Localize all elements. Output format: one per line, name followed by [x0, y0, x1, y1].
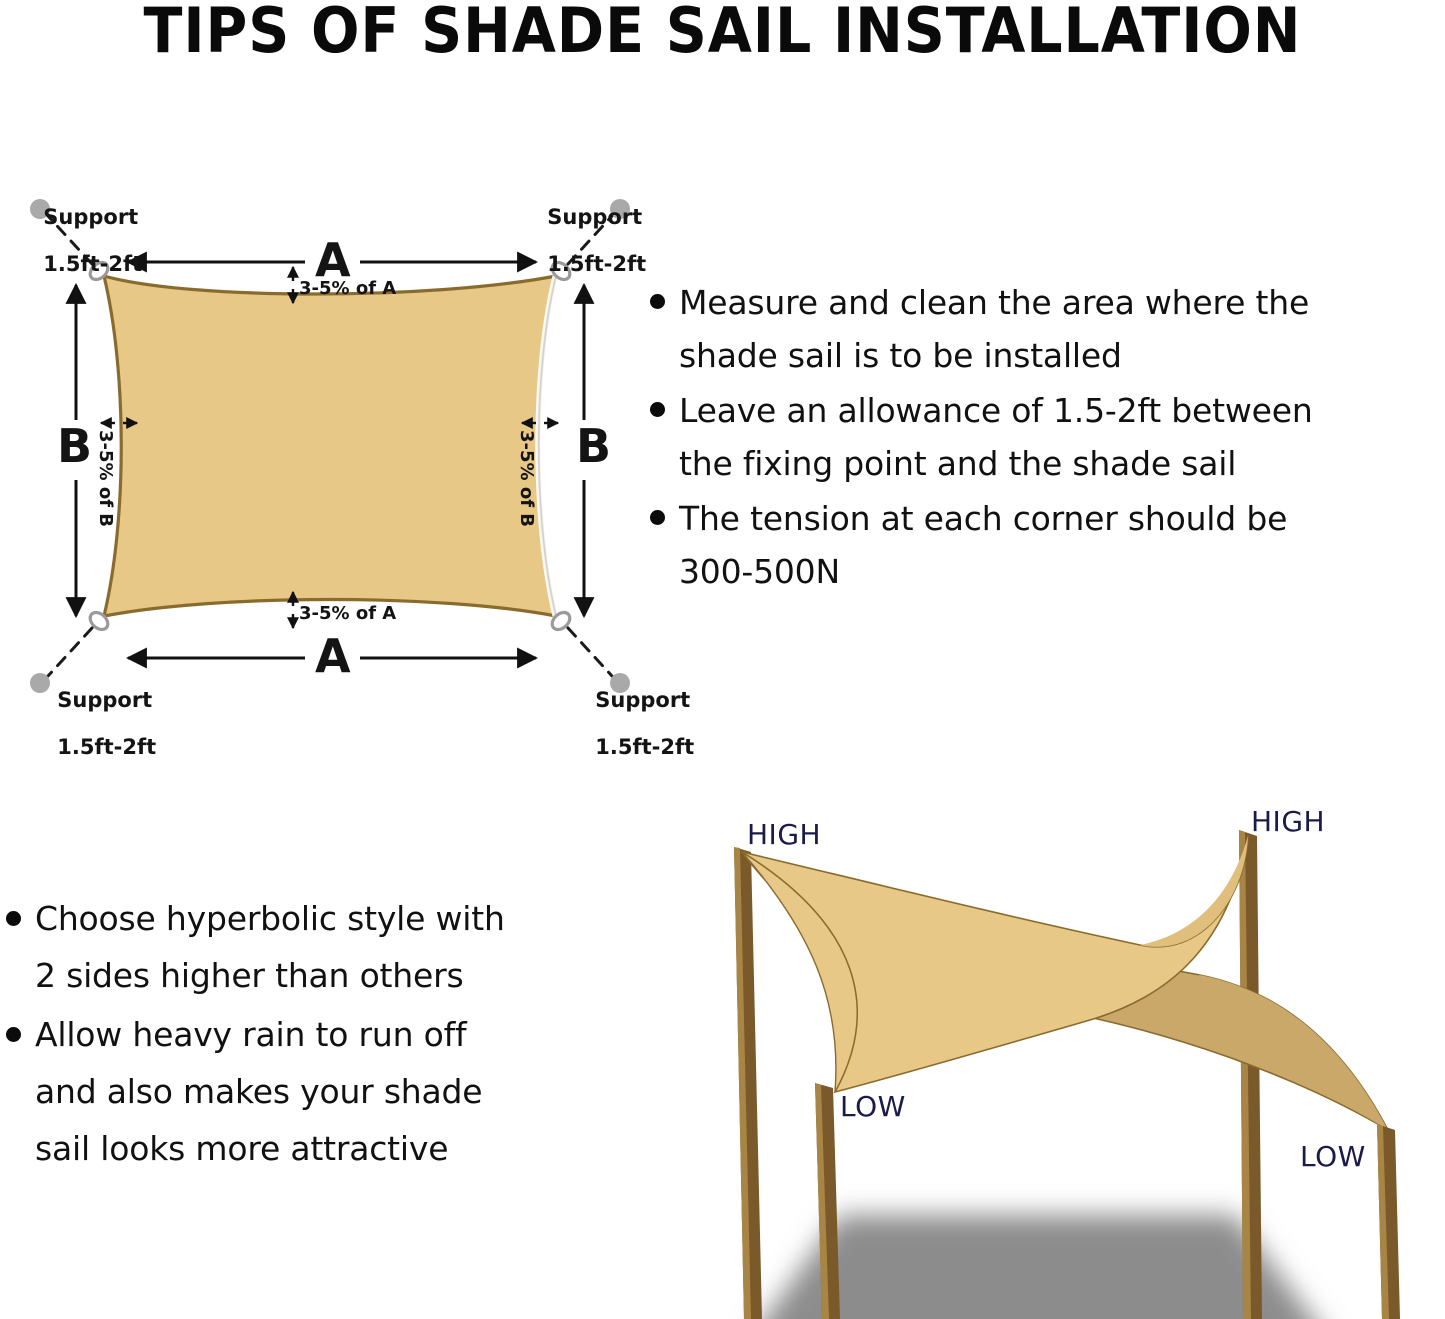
- corner-grommets: [87, 259, 573, 633]
- support-label-top-right: Support 1.5ft-2ft: [518, 182, 646, 300]
- list-item-line: Choose hyperbolic style with: [35, 890, 505, 947]
- support-label-line2: 1.5ft-2ft: [595, 735, 694, 759]
- support-label-top-left: Support 1.5ft-2ft: [14, 182, 142, 300]
- list-item-line: 300-500N: [679, 545, 1287, 598]
- curve-depth-indicators: [101, 267, 558, 628]
- list-item: Choose hyperbolic style with 2 sides hig…: [6, 890, 626, 1004]
- sail-shape-top: [104, 276, 556, 616]
- curve-note-bottom: 3-5% of A: [299, 604, 396, 624]
- bullet-dot-icon: [650, 402, 665, 417]
- post-front-right-low: [1377, 1124, 1400, 1319]
- list-item-line: 2 sides higher than others: [35, 947, 505, 1004]
- dimension-label-a-bottom: A: [315, 631, 351, 683]
- bullet-dot-icon: [6, 911, 21, 926]
- list-item: The tension at each corner should be 300…: [650, 492, 1445, 598]
- dimension-label-b-right: B: [576, 421, 611, 473]
- dimension-label-b-left: B: [57, 421, 92, 473]
- post-back-right: [1239, 830, 1262, 1319]
- ground-shadow: [710, 1215, 1370, 1319]
- label-high-right: HIGH: [1251, 805, 1325, 838]
- list-item-line: and also makes your shade: [35, 1063, 482, 1120]
- list-item-line: Measure and clean the area where the: [679, 276, 1309, 329]
- page-title: TIPS OF SHADE SAIL INSTALLATION: [58, 0, 1387, 67]
- support-label-bottom-left: Support 1.5ft-2ft: [28, 665, 156, 783]
- list-item-line: Allow heavy rain to run off: [35, 1006, 482, 1063]
- support-label-line2: 1.5ft-2ft: [43, 252, 142, 276]
- support-label-line1: Support: [43, 205, 138, 229]
- post-front-left-low: [815, 1083, 840, 1319]
- curve-note-left: 3-5% of B: [95, 430, 115, 527]
- tips-list-left: Choose hyperbolic style with 2 sides hig…: [6, 890, 626, 1179]
- support-label-line2: 1.5ft-2ft: [547, 252, 646, 276]
- bullet-dot-icon: [650, 294, 665, 309]
- support-label-line1: Support: [595, 688, 690, 712]
- list-item-line: shade sail is to be installed: [679, 329, 1309, 382]
- label-low-left: LOW: [840, 1090, 906, 1123]
- list-item-line: sail looks more attractive: [35, 1120, 482, 1177]
- tips-list-right: Measure and clean the area where the sha…: [650, 276, 1445, 600]
- bullet-dot-icon: [650, 510, 665, 525]
- shade-sail-front: [742, 836, 1248, 1092]
- list-item: Allow heavy rain to run off and also mak…: [6, 1006, 626, 1177]
- bullet-dot-icon: [6, 1027, 21, 1042]
- list-item-line: The tension at each corner should be: [679, 492, 1287, 545]
- label-high-left: HIGH: [747, 818, 821, 851]
- support-label-line1: Support: [57, 688, 152, 712]
- support-label-bottom-right: Support 1.5ft-2ft: [566, 665, 694, 783]
- curve-note-top: 3-5% of A: [299, 279, 396, 299]
- list-item: Leave an allowance of 1.5-2ft between th…: [650, 384, 1445, 490]
- shade-sail-rear: [742, 852, 1388, 1130]
- list-item-line: Leave an allowance of 1.5-2ft between: [679, 384, 1313, 437]
- support-label-line1: Support: [547, 205, 642, 229]
- list-item: Measure and clean the area where the sha…: [650, 276, 1445, 382]
- label-low-right: LOW: [1300, 1140, 1366, 1173]
- post-back-left: [734, 847, 762, 1319]
- support-label-line2: 1.5ft-2ft: [57, 735, 156, 759]
- infographic-canvas: TIPS OF SHADE SAIL INSTALLATION: [0, 0, 1445, 1319]
- list-item-line: the fixing point and the shade sail: [679, 437, 1313, 490]
- curve-note-right: 3-5% of B: [516, 430, 536, 527]
